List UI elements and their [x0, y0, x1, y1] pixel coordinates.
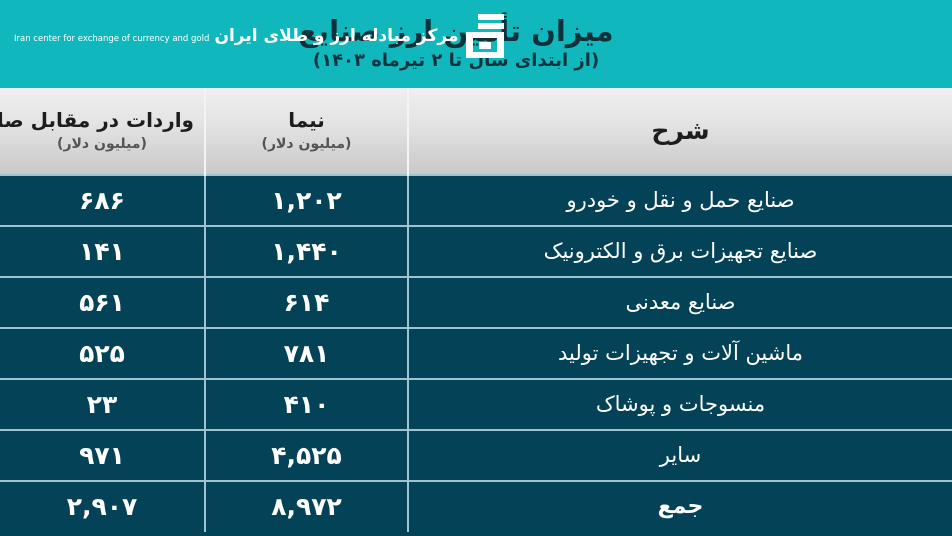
cell-imports-vs-exports: ۵۲۵ — [0, 328, 205, 379]
cell-imports-vs-exports-total: ۲,۹۰۷ — [0, 481, 205, 532]
logo-english-name: Iran center for exchange of currency and… — [14, 34, 209, 44]
cell-nima-total: ۸,۹۷۲ — [205, 481, 408, 532]
logo-script-name: مرکز مبادله ارز و طلای ایران — [214, 26, 458, 46]
column-header-imports-vs-exports-label: واردات در مقابل صادرات — [10, 109, 194, 132]
table-row: صنایع حمل و نقل و خودرو ۱,۲۰۲ ۶۸۶ — [0, 175, 952, 226]
cell-imports-vs-exports: ۵۶۱ — [0, 277, 205, 328]
logo-mark-icon — [466, 14, 504, 58]
cell-imports-vs-exports: ۶۸۶ — [0, 175, 205, 226]
column-header-nima: نیما (میلیون دلار) — [205, 88, 408, 175]
logo-text: مرکز مبادله ارز و طلای ایران Iran center… — [14, 26, 458, 46]
table-row: سایر ۴,۵۲۵ ۹۷۱ — [0, 430, 952, 481]
table-total-row: جمع ۸,۹۷۲ ۲,۹۰۷ — [0, 481, 952, 532]
column-header-imports-vs-exports: واردات در مقابل صادرات (میلیون دلار) — [0, 88, 205, 175]
column-header-imports-vs-exports-unit: (میلیون دلار) — [10, 136, 194, 152]
cell-nima: ۱,۲۰۲ — [205, 175, 408, 226]
table-row: صنایع تجهیزات برق و الکترونیک ۱,۴۴۰ ۱۴۱ — [0, 226, 952, 277]
cell-description: منسوجات و پوشاک — [408, 379, 952, 430]
cell-description: صنایع تجهیزات برق و الکترونیک — [408, 226, 952, 277]
organization-logo: مرکز مبادله ارز و طلای ایران Iran center… — [14, 14, 504, 58]
cell-nima: ۴,۵۲۵ — [205, 430, 408, 481]
currency-supply-table: شرح نیما (میلیون دلار) واردات در مقابل ص… — [0, 88, 952, 532]
cell-imports-vs-exports: ۲۳ — [0, 379, 205, 430]
infographic-page: میزان تأمین ارز صنایع (از ابتدای سال تا … — [0, 0, 952, 536]
table-row: ماشین آلات و تجهیزات تولید ۷۸۱ ۵۲۵ — [0, 328, 952, 379]
cell-imports-vs-exports: ۹۷۱ — [0, 430, 205, 481]
cell-nima: ۶۱۴ — [205, 277, 408, 328]
cell-description: سایر — [408, 430, 952, 481]
cell-imports-vs-exports: ۱۴۱ — [0, 226, 205, 277]
cell-description-total: جمع — [408, 481, 952, 532]
cell-nima: ۴۱۰ — [205, 379, 408, 430]
cell-nima: ۷۸۱ — [205, 328, 408, 379]
cell-description: ماشین آلات و تجهیزات تولید — [408, 328, 952, 379]
table-header-row: شرح نیما (میلیون دلار) واردات در مقابل ص… — [0, 88, 952, 175]
table-row: منسوجات و پوشاک ۴۱۰ ۲۳ — [0, 379, 952, 430]
table-body: صنایع حمل و نقل و خودرو ۱,۲۰۲ ۶۸۶ صنایع … — [0, 175, 952, 532]
cell-description: صنایع معدنی — [408, 277, 952, 328]
header-banner: میزان تأمین ارز صنایع (از ابتدای سال تا … — [0, 0, 952, 88]
column-header-description: شرح — [408, 88, 952, 175]
column-header-description-label: شرح — [419, 117, 942, 146]
cell-description: صنایع حمل و نقل و خودرو — [408, 175, 952, 226]
column-header-nima-unit: (میلیون دلار) — [216, 136, 397, 152]
column-header-nima-label: نیما — [216, 109, 397, 132]
table-header: شرح نیما (میلیون دلار) واردات در مقابل ص… — [0, 88, 952, 175]
cell-nima: ۱,۴۴۰ — [205, 226, 408, 277]
table-row: صنایع معدنی ۶۱۴ ۵۶۱ — [0, 277, 952, 328]
